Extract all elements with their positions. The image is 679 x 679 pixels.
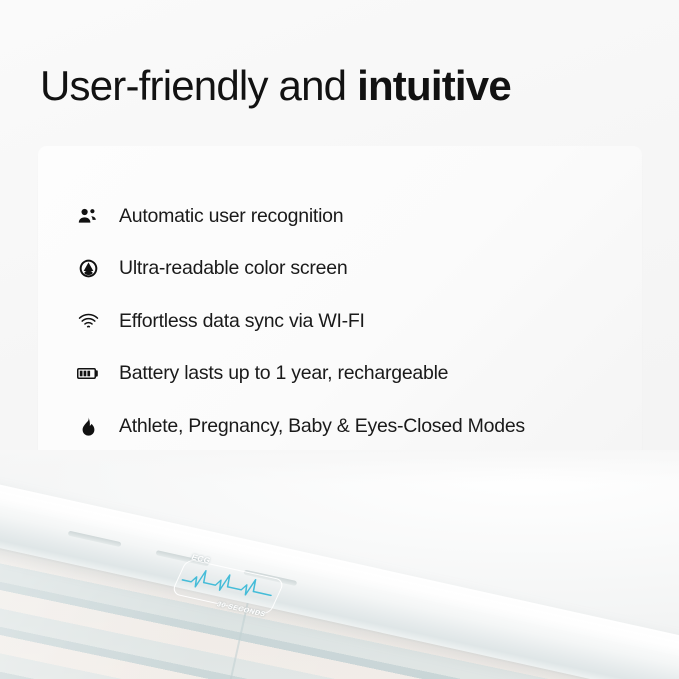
list-item: Ultra-readable color screen: [75, 243, 679, 296]
list-item: Battery lasts up to 1 year, rechargeable: [75, 348, 679, 401]
page-title-part1: User-friendly and: [40, 62, 357, 109]
flame-icon: [75, 413, 101, 439]
smart-scale-photo: [0, 450, 679, 679]
list-item: Automatic user recognition: [75, 190, 679, 243]
wifi-icon: [75, 308, 101, 334]
scale-bar-notch: [68, 531, 122, 548]
feature-card: Automatic user recognition Ultra-readabl…: [38, 146, 642, 491]
page-title-part2: intuitive: [357, 62, 511, 109]
list-item-label: Battery lasts up to 1 year, rechargeable: [119, 362, 448, 385]
page-title: User-friendly and intuitive: [40, 62, 511, 110]
list-item-label: Ultra-readable color screen: [119, 257, 347, 280]
list-item: Effortless data sync via WI-FI: [75, 295, 679, 348]
battery-icon: [75, 361, 101, 387]
page-canvas: User-friendly and intuitive Automatic us…: [0, 0, 679, 679]
list-item: Athlete, Pregnancy, Baby & Eyes-Closed M…: [75, 400, 679, 453]
screen-icon: [75, 256, 101, 282]
list-item-label: Athlete, Pregnancy, Baby & Eyes-Closed M…: [119, 415, 525, 438]
feature-list: Automatic user recognition Ultra-readabl…: [75, 190, 679, 453]
users-icon: [75, 203, 101, 229]
list-item-label: Effortless data sync via WI-FI: [119, 310, 365, 333]
list-item-label: Automatic user recognition: [119, 205, 343, 228]
